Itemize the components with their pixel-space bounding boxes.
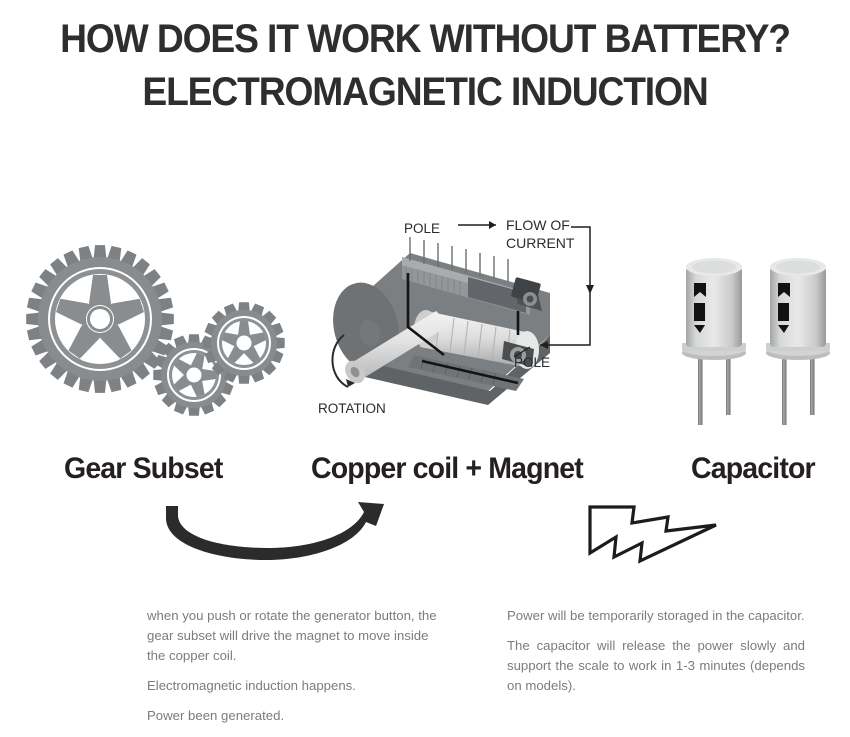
label-rotation: ROTATION [318, 401, 386, 416]
electrolytic-capacitor-icon [664, 245, 844, 430]
label-flow-line1: FLOW OF [506, 217, 570, 233]
polarity-stripe [694, 283, 706, 333]
label-pole-top: POLE [404, 221, 440, 236]
paragraph: Power been generated. [147, 706, 437, 726]
title-line-1: HOW DOES IT WORK WITHOUT BATTERY? [30, 16, 821, 63]
gears-illustration [22, 243, 292, 433]
label-pole-bottom: POLE [514, 355, 550, 370]
capacitor-unit [682, 258, 746, 425]
description-right: Power will be temporarily storaged in th… [507, 606, 805, 706]
capacitor-unit [766, 258, 830, 425]
capacitor-lead [726, 353, 731, 415]
caption-gear-subset: Gear Subset [64, 452, 223, 486]
title-line-2: ELECTROMAGNETIC INDUCTION [30, 69, 821, 116]
capacitor-lead [782, 353, 787, 425]
paragraph: when you push or rotate the generator bu… [147, 606, 437, 666]
polarity-stripe [778, 283, 790, 333]
label-flow-line2: CURRENT [506, 235, 575, 251]
capacitor-illustration [664, 245, 844, 430]
paragraph: Electromagnetic induction happens. [147, 676, 437, 696]
lightning-bolt-icon [580, 495, 725, 570]
generator-coil-magnet-icon: POLE FLOW OF CURRENT POLE ROTATION [318, 215, 618, 425]
gear-small-right [203, 302, 284, 383]
caption-copper-coil-magnet: Copper coil + Magnet [311, 452, 583, 486]
caption-capacitor: Capacitor [691, 452, 815, 486]
curved-arrow-right-icon [158, 500, 398, 570]
description-left: when you push or rotate the generator bu… [147, 606, 437, 736]
paragraph: The capacitor will release the power slo… [507, 636, 805, 696]
gears-icon [22, 243, 292, 433]
capacitor-lead [810, 353, 815, 415]
arrow-shape [166, 502, 384, 560]
page-title: HOW DOES IT WORK WITHOUT BATTERY? ELECTR… [0, 16, 850, 116]
bolt-shape [590, 507, 716, 561]
paragraph: Power will be temporarily storaged in th… [507, 606, 805, 626]
capacitor-lead [698, 353, 703, 425]
generator-illustration: POLE FLOW OF CURRENT POLE ROTATION [318, 215, 618, 425]
gear-large [26, 245, 174, 393]
infographic-page: HOW DOES IT WORK WITHOUT BATTERY? ELECTR… [0, 0, 850, 737]
